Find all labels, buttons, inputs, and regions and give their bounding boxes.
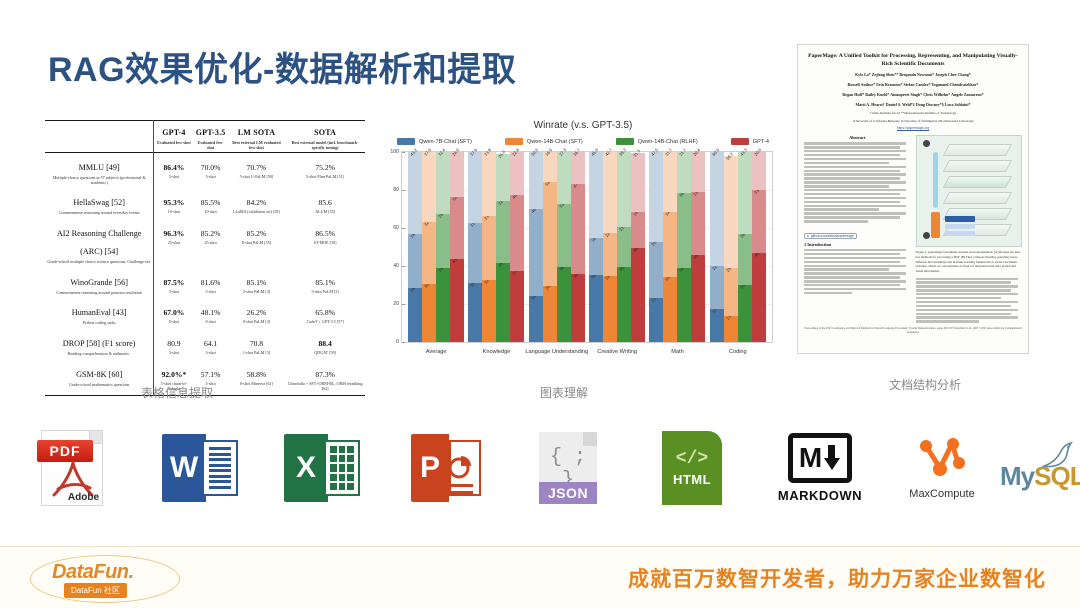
bar-segment-win: 43.2	[408, 152, 422, 234]
stacked-bar[interactable]: 45.833.320.8	[691, 152, 705, 342]
category-group: 28.628.243.230.732.337.038.728.932.443.9…	[406, 152, 466, 342]
bar-segment-loss: 31.1	[468, 283, 482, 342]
markdown-box-shape: M	[788, 433, 852, 483]
content-panels: GPT-4 Evaluated few-shot GPT-3.5 Evaluat…	[0, 112, 1080, 412]
bar-segment-win: 45.0	[589, 152, 603, 238]
table-row: AI2 Reasoning Challenge (ARC) [54]Grade-…	[45, 219, 365, 268]
row-label-cell: DROP [58] (F1 score)Reading comprehensio…	[45, 329, 154, 360]
code-tag-glyph: </>	[676, 449, 708, 469]
bar-segment-win: 59.2	[724, 156, 738, 268]
html-document-shape: </> HTML	[662, 431, 722, 505]
table-cell: 85.2%25-shot	[194, 219, 228, 268]
bar-segment-win: 21.7	[677, 152, 691, 193]
word-letter: W	[162, 434, 206, 502]
row-label-cell: HellaSwag [52]Commonsense reasoning arou…	[45, 188, 154, 219]
bar-segment-win: 22.8	[510, 152, 524, 195]
bar-segment-label: 31.7	[665, 147, 674, 156]
excel-shape: X	[284, 434, 360, 502]
y-tick: 20	[393, 301, 399, 307]
stacked-bar[interactable]: 39.333.327.3	[557, 152, 571, 342]
format-icon-strip: PDF Adobe W X P	[0, 418, 1080, 518]
category-label: Math	[671, 349, 683, 355]
table-cell: 85.5%10-shot	[194, 188, 228, 219]
bar-segment-tie: 47.3	[571, 184, 585, 274]
stacked-bar[interactable]: 37.240.022.8	[510, 152, 524, 342]
figure-node-b	[923, 232, 930, 239]
table-header-row: GPT-4 Evaluated few-shot GPT-3.5 Evaluat…	[45, 121, 365, 153]
down-arrow-icon	[823, 444, 841, 472]
bar-segment-tie: 54.7	[543, 182, 557, 286]
bar-segment-label: 22.8	[512, 147, 521, 156]
paper-affiliation-1: *Allen Institute for AI **Massachusetts …	[804, 111, 1022, 116]
json-fold-corner	[583, 432, 597, 446]
row-label-cell: GSM-8K [60]Grade-school mathematics ques…	[45, 360, 154, 395]
stacked-bar[interactable]: 43.932.324.0	[450, 152, 464, 342]
bar-segment-label: 24.0	[451, 147, 460, 156]
markdown-label: MARKDOWN	[778, 488, 862, 503]
bar-segment-win: 37.0	[422, 152, 436, 222]
paper-page-image: PaperMage: A Unified Toolkit for Process…	[797, 44, 1029, 354]
bar-segment-tie: 28.2	[408, 234, 422, 288]
introduction-heading: 1 Introduction	[804, 242, 911, 247]
table-row: DROP [58] (F1 score)Reading comprehensio…	[45, 329, 365, 360]
legend-item[interactable]: GPT-4	[731, 138, 769, 145]
bar-segment-loss: 36.0	[571, 274, 585, 342]
bar-segment-tie: 46.0	[529, 209, 543, 296]
bar-segment-tie: 32.8	[496, 201, 510, 263]
bar-segment-loss: 34.2	[663, 277, 677, 342]
bar-segment-win: 43.3	[738, 152, 752, 234]
html-icon[interactable]: </> HTML	[632, 418, 752, 518]
paper-link[interactable]: https://papermage.org	[804, 126, 1022, 130]
table-cell: 70.7%5-shot U-PaLM [50]	[228, 152, 286, 188]
bar-segment-label: 27.3	[558, 148, 567, 157]
bar-segment-win: 20.8	[691, 152, 705, 192]
table-row: HumanEval [43]Python coding tasks67.0%0-…	[45, 298, 365, 329]
page-title: RAG效果优化-数据解析和提取	[48, 42, 516, 91]
bar-segment-tie: 32.3	[422, 222, 436, 283]
table-cell: 64.13-shot	[194, 329, 228, 360]
bar-segment-win: 60.0	[710, 152, 724, 266]
adobe-label: Adobe	[68, 492, 99, 503]
stacked-bar[interactable]: 41.432.825.0	[496, 152, 510, 342]
bar-segment-tie: 34.2	[663, 212, 677, 277]
y-tick: 80	[393, 187, 399, 193]
bar-segment-label: 16.7	[572, 147, 581, 156]
bar-segment-label: 16.0	[544, 147, 553, 156]
bar-segment-tie: 19.7	[589, 238, 603, 275]
powerpoint-letter: P	[411, 434, 449, 502]
bar-segment-tie: 31.4	[468, 223, 482, 283]
table-cell: 95.3%10-shot	[154, 188, 194, 219]
mysql-my-label: My	[1000, 461, 1034, 491]
bar-segment-label: 47.5	[651, 147, 660, 156]
bar-segment-tie: 29.2	[649, 242, 663, 297]
column-header-gpt4: GPT-4 Evaluated few-shot	[154, 121, 194, 153]
bar-segment-loss: 34.7	[603, 276, 617, 342]
bar-segment-loss: 13.8	[724, 316, 738, 342]
pdf-document-shape: PDF Adobe	[41, 430, 103, 506]
bar-segment-label: 20.8	[693, 148, 702, 157]
bar-segment-loss: 45.8	[691, 255, 705, 342]
bar-segment-loss: 30.0	[738, 285, 752, 342]
stacked-bar[interactable]: 23.329.247.5	[649, 152, 663, 342]
bar-segment-win: 42.7	[603, 152, 617, 233]
bar-segment-label: 25.0	[498, 149, 507, 158]
stacked-bar[interactable]: 39.721.039.3	[617, 152, 631, 342]
bar-segment-tie: 33.3	[691, 192, 705, 255]
datafun-community-badge: DataFun 社区	[64, 583, 127, 598]
maxcompute-glyph	[914, 436, 970, 482]
bar-segment-loss: 39.7	[617, 267, 631, 342]
stacked-bar[interactable]: 39.239.221.7	[677, 152, 691, 342]
bar-segment-loss: 32.8	[482, 280, 496, 342]
figure-chip-1	[945, 216, 975, 222]
bar-segment-win: 24.0	[450, 152, 464, 198]
bar-segment-win: 31.7	[663, 152, 677, 212]
stacked-bar[interactable]: 49.319.031.3	[631, 152, 645, 342]
benchmark-table-image: GPT-4 Evaluated few-shot GPT-3.5 Evaluat…	[45, 120, 365, 370]
maxcompute-icon[interactable]: MaxCompute	[882, 418, 1002, 518]
figure-node-a	[923, 140, 930, 147]
category-group: 24.046.030.029.354.716.039.333.327.336.0…	[527, 152, 587, 342]
bar-segment-win: 16.7	[571, 152, 585, 184]
stacked-bar[interactable]: 38.728.932.4	[436, 152, 450, 342]
bar-segment-loss: 39.2	[677, 268, 691, 342]
benchmark-table: GPT-4 Evaluated few-shot GPT-3.5 Evaluat…	[45, 120, 365, 396]
json-document-shape: { ; } JSON	[539, 432, 597, 504]
table-cell: 58.8%8-shot Minerva [61]	[228, 360, 286, 395]
powerpoint-shape: P	[411, 434, 481, 502]
json-label: JSON	[539, 482, 597, 504]
table-cell: 88.4QDGAT [59]	[285, 329, 365, 360]
bar-segment-loss: 38.7	[436, 268, 450, 342]
word-page	[202, 440, 238, 496]
legend-item[interactable]: Qwen-14B-Chat (SFT)	[505, 138, 583, 145]
stacked-bar[interactable]: 46.733.320.0	[752, 152, 766, 342]
bar-segment-loss: 29.3	[543, 286, 557, 342]
legend-label: Qwen-14B-Chat (SFT)	[527, 139, 583, 145]
word-icon[interactable]: W	[140, 418, 260, 518]
table-cell: 65.8%CodeT + GPT-3.5 [57]	[285, 298, 365, 329]
excel-grid	[324, 440, 360, 496]
bar-segment-label: 32.4	[437, 147, 446, 156]
pie-chart-icon	[447, 452, 475, 498]
bar-segment-tie: 32.3	[450, 197, 464, 258]
legend-swatch	[397, 138, 415, 145]
category-group: 31.131.437.632.833.333.941.432.825.037.2…	[466, 152, 526, 342]
category-label: Language Understanding	[525, 349, 588, 355]
bar-segment-tie: 28.9	[436, 214, 450, 269]
bar-segment-label: 43.2	[409, 147, 418, 156]
paper-authors-line-2: Russell Authur* Erin Bransom* Stefan Can…	[804, 82, 1022, 88]
stacked-bar[interactable]: 17.522.560.0	[710, 152, 724, 342]
bar-segment-label: 43.3	[739, 147, 748, 156]
table-row: HellaSwag [52]Commonsense reasoning arou…	[45, 188, 365, 219]
table-corner-cell	[45, 121, 154, 153]
bar-segment-win: 47.5	[649, 152, 663, 242]
category-label: Knowledge	[483, 349, 511, 355]
y-tick: 100	[390, 149, 399, 155]
paper-authors-line-1: Kyle Lo* Zejiang Shen** Benjamin Newman*…	[804, 72, 1022, 78]
bar-segment-loss: 43.9	[450, 259, 464, 342]
paper-affiliation-2: †University of California Berkeley ‡Univ…	[804, 119, 1022, 124]
excel-letter: X	[284, 434, 328, 502]
y-tick: 40	[393, 263, 399, 269]
stacked-bar[interactable]: 36.047.316.7	[571, 152, 585, 342]
bar-segment-tie: 33.3	[752, 190, 766, 253]
bar-segment-win: 32.4	[436, 152, 450, 214]
mysql-shape: MySQL	[1000, 440, 1076, 496]
legend-label: Qwen-14B-Chat (RLHF)	[638, 139, 698, 145]
markdown-icon[interactable]: M MARKDOWN	[760, 418, 880, 518]
bar-segment-tie: 21.0	[617, 227, 631, 267]
table-cell: 67.0%0-shot	[154, 298, 194, 329]
bar-segment-win: 30.0	[529, 152, 543, 209]
pdf-label: PDF	[37, 440, 93, 462]
caption-document-structure: 文档结构分析	[889, 376, 961, 393]
html-label: HTML	[673, 472, 711, 487]
word-shape: W	[162, 434, 238, 502]
table-cell: 80.93-shot	[154, 329, 194, 360]
bar-segment-loss: 46.7	[752, 253, 766, 342]
bar-segment-label: 37.0	[423, 147, 432, 156]
chart-title: Winrate (v.s. GPT-3.5)	[383, 120, 783, 131]
datafun-logo[interactable]: DataFun. DataFun 社区	[30, 555, 180, 603]
github-badge-label: github.com/allenai/papermage	[811, 234, 854, 238]
bar-segment-win: 33.9	[482, 152, 496, 216]
bar-segment-win: 20.0	[752, 152, 766, 190]
bar-segment-win: 25.0	[496, 154, 510, 202]
caption-chart-understanding: 图表理解	[540, 384, 588, 401]
legend-swatch	[731, 138, 749, 145]
winrate-chart: Winrate (v.s. GPT-3.5) Qwen-7B-Chat (SFT…	[383, 112, 783, 377]
bar-segment-label: 39.3	[618, 147, 627, 156]
mysql-sql-label: SQL	[1034, 461, 1080, 491]
bar-segment-tie: 26.7	[738, 234, 752, 285]
figure-bar-orange	[931, 212, 940, 238]
bar-segment-label: 31.3	[632, 148, 641, 157]
caption-table-extraction: 表格信息提取	[141, 384, 213, 401]
bar-segment-loss: 30.7	[422, 284, 436, 342]
table-cell: 75.2%5-shot Flan-PaLM [51]	[285, 152, 365, 188]
paper-footer-note: Proceedings of the 2023 Conference on Em…	[804, 327, 1022, 335]
bar-segment-tie: 39.2	[677, 193, 691, 267]
row-label-cell: MMLU [49]Multiple-choice questions in 57…	[45, 152, 154, 188]
github-badge[interactable]: ● github.com/allenai/papermage	[804, 233, 857, 239]
bar-segment-tie: 33.3	[482, 216, 496, 279]
mysql-icon[interactable]: MySQL	[1000, 418, 1076, 518]
bar-segment-loss: 28.6	[408, 288, 422, 342]
paper-title: PaperMage: A Unified Toolkit for Process…	[804, 53, 1022, 68]
bar-segment-label: 60.0	[711, 147, 720, 156]
table-row: WinoGrande [56]Commonsense reasoning aro…	[45, 268, 365, 299]
footer-slogan: 成就百万数智开发者，助力万家企业数智化	[628, 563, 1046, 593]
y-tick: 0	[396, 339, 399, 345]
table-cell: 70.81-shot PaLM [3]	[228, 329, 286, 360]
bar-segment-loss: 37.2	[510, 271, 524, 342]
bar-segment-loss: 24.0	[529, 296, 543, 342]
paper-left-column: Abstract ● github.com/allenai/papermage …	[804, 135, 911, 324]
bar-segment-loss: 41.4	[496, 263, 510, 342]
bar-segment-loss: 49.3	[631, 248, 645, 342]
category-group: 17.522.560.013.825.059.230.026.743.346.7…	[708, 152, 768, 342]
paper-authors-line-4: Marti A. Hearst† Daniel S. Weld*‡ Doug D…	[804, 102, 1022, 108]
legend-label: Qwen-7B-Chat (SFT)	[419, 139, 472, 145]
table-cell: 86.5%ST-MOE [18]	[285, 219, 365, 268]
paper-right-column: Figure 1: papermage's document creation …	[916, 135, 1023, 324]
bar-segment-tie: 25.0	[724, 268, 738, 316]
bar-segment-label: 21.7	[679, 147, 688, 156]
bar-segment-loss: 35.1	[589, 275, 603, 342]
category-label: Creative Writing	[597, 349, 637, 355]
maxcompute-label: MaxCompute	[909, 488, 974, 500]
bar-segment-win: 37.6	[468, 152, 482, 223]
table-header: GPT-4 Evaluated few-shot GPT-3.5 Evaluat…	[45, 121, 365, 153]
figure-chip-3	[945, 231, 975, 236]
bar-segment-win: 31.3	[631, 153, 645, 212]
stacked-bar[interactable]: 28.628.243.2	[408, 152, 422, 342]
stacked-bar[interactable]: 24.046.030.0	[529, 152, 543, 342]
bar-segment-loss: 39.3	[557, 267, 571, 342]
markdown-m-glyph: M	[799, 444, 822, 472]
bar-segment-tie: 40.0	[510, 195, 524, 271]
chart-bars: 28.628.243.230.732.337.038.728.932.443.9…	[402, 152, 772, 342]
chart-plot-area: 020406080100 28.628.243.230.732.337.038.…	[401, 151, 773, 343]
table-cell: 87.3%Chinchilla + SFT+ORM-RL, ORM rerank…	[285, 360, 365, 395]
legend-swatch	[505, 138, 523, 145]
legend-label: GPT-4	[753, 139, 769, 145]
excel-icon[interactable]: X	[262, 418, 382, 518]
y-tick: 60	[393, 225, 399, 231]
bar-segment-label: 45.0	[590, 148, 599, 157]
stacked-bar[interactable]: 34.234.231.7	[663, 152, 677, 342]
stacked-bar[interactable]: 30.026.743.3	[738, 152, 752, 342]
bar-segment-tie: 22.7	[603, 233, 617, 276]
legend-swatch	[616, 138, 634, 145]
bar-segment-label: 33.9	[484, 147, 493, 156]
category-group: 35.119.745.034.722.742.739.721.039.349.3…	[587, 152, 647, 342]
table-cell: 87.5%5-shot	[154, 268, 194, 299]
paper-figure	[916, 135, 1023, 247]
column-header-lm-sota: LM SOTA Best external LM evaluated few-s…	[228, 121, 286, 153]
stacked-bar[interactable]: 35.119.745.0	[589, 152, 603, 342]
row-label-cell: HumanEval [43]Python coding tasks	[45, 298, 154, 329]
stacked-bar[interactable]: 30.732.337.0	[422, 152, 436, 342]
figure-chip-2	[945, 224, 975, 229]
bar-segment-label: 59.2	[725, 151, 734, 160]
bar-segment-label: 30.0	[530, 147, 539, 156]
bar-segment-win: 39.3	[617, 152, 631, 227]
table-cell: 84.2%LLaMA (validation set) [28]	[228, 188, 286, 219]
bar-segment-tie: 33.3	[557, 204, 571, 267]
category-label: Average	[426, 349, 447, 355]
table-cell: 85.2%8-shot PaLM [55]	[228, 219, 286, 268]
bar-segment-loss: 17.5	[710, 309, 724, 342]
stacked-bar[interactable]: 34.722.742.7	[603, 152, 617, 342]
bar-segment-label: 20.0	[753, 147, 762, 156]
table-cell: 85.6ALUM [53]	[285, 188, 365, 219]
datafun-brand-label: DataFun.	[52, 561, 134, 584]
row-label-cell: WinoGrande [56]Commonsense reasoning aro…	[45, 268, 154, 299]
powerpoint-page	[449, 440, 481, 496]
table-body: MMLU [49]Multiple-choice questions in 57…	[45, 152, 365, 395]
bar-segment-tie: 22.5	[710, 266, 724, 309]
column-header-gpt35: GPT-3.5 Evaluated few-shot	[194, 121, 228, 153]
table-row: MMLU [49]Multiple-choice questions in 57…	[45, 152, 365, 188]
table-cell: 96.3%25-shot	[154, 219, 194, 268]
footer-bar: DataFun. DataFun 社区 成就百万数智开发者，助力万家企业数智化	[0, 546, 1080, 608]
figure-caption: Figure 1: papermage's document creation …	[916, 250, 1023, 273]
stacked-bar[interactable]: 13.825.059.2	[724, 152, 738, 342]
stacked-bar[interactable]: 29.354.716.0	[543, 152, 557, 342]
stacked-bar[interactable]: 32.833.333.9	[482, 152, 496, 342]
bar-segment-win: 16.0	[543, 152, 557, 182]
bar-segment-label: 37.6	[470, 147, 479, 156]
github-icon: ●	[807, 234, 809, 238]
legend-item[interactable]: Qwen-7B-Chat (SFT)	[397, 138, 472, 145]
bar-segment-tie: 19.0	[631, 212, 645, 248]
bar-segment-win: 27.3	[557, 152, 571, 204]
table-cell: 26.2%0-shot PaLM [3]	[228, 298, 286, 329]
category-label: Coding	[729, 349, 747, 355]
category-group: 23.329.247.534.234.231.739.239.221.745.8…	[647, 152, 707, 342]
table-cell: 86.4%5-shot	[154, 152, 194, 188]
bar-segment-label: 42.7	[604, 147, 613, 156]
figure-bar-blue	[933, 152, 938, 208]
stacked-bar[interactable]: 31.131.437.6	[468, 152, 482, 342]
pdf-icon[interactable]: PDF Adobe	[12, 418, 132, 518]
table-cell: 70.0%5-shot	[194, 152, 228, 188]
table-cell: 85.1%5-shot PaLM [3]	[228, 268, 286, 299]
abstract-heading: Abstract	[804, 135, 911, 140]
json-icon[interactable]: { ; } JSON	[508, 418, 628, 518]
paper-authors-line-3: Regan Huff* Bailey Kuehl* Amanpreet Sing…	[804, 92, 1022, 98]
chart-legend: Qwen-7B-Chat (SFT)Qwen-14B-Chat (SFT)Qwe…	[383, 138, 783, 145]
row-label-cell: AI2 Reasoning Challenge (ARC) [54]Grade-…	[45, 219, 154, 268]
column-header-sota: SOTA Best external model (incl. benchmar…	[285, 121, 365, 153]
legend-item[interactable]: Qwen-14B-Chat (RLHF)	[616, 138, 698, 145]
powerpoint-icon[interactable]: P	[386, 418, 506, 518]
table-cell: 81.6%5-shot	[194, 268, 228, 299]
table-cell: 85.1%5-shot PaLM [3]	[285, 268, 365, 299]
bar-segment-loss: 23.3	[649, 298, 663, 342]
table-cell: 48.1%0-shot	[194, 298, 228, 329]
